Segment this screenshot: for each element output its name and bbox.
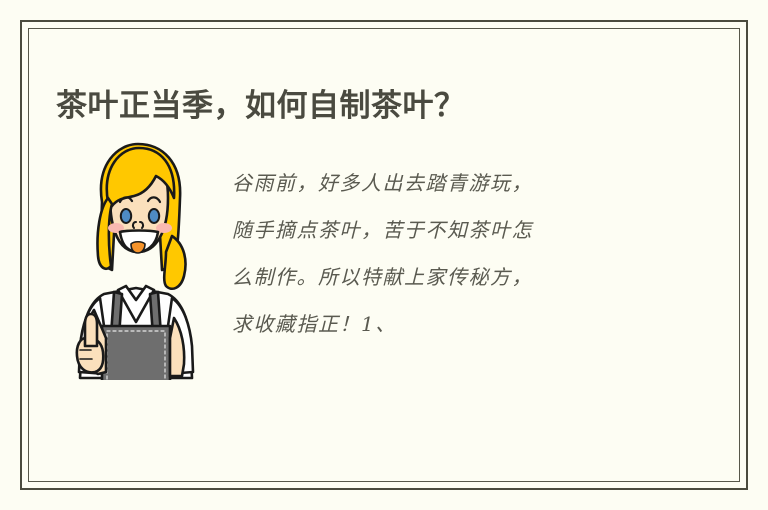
body-line: 么制作。所以特献上家传秘方， — [232, 254, 647, 301]
article-body: 谷雨前，好多人出去踏青游玩， 随手摘点茶叶，苦于不知茶叶怎 么制作。所以特献上家… — [232, 160, 647, 348]
body-line: 谷雨前，好多人出去踏青游玩， — [232, 160, 647, 207]
body-line: 求收藏指正！1、 — [232, 301, 647, 348]
article-card: 茶叶正当季，如何自制茶叶？ — [0, 0, 768, 510]
page-title: 茶叶正当季，如何自制茶叶？ — [56, 87, 706, 126]
body-line: 随手摘点茶叶，苦于不知茶叶怎 — [232, 207, 647, 254]
illustration-smiling-girl-in-apron-pointing-up — [66, 140, 206, 380]
